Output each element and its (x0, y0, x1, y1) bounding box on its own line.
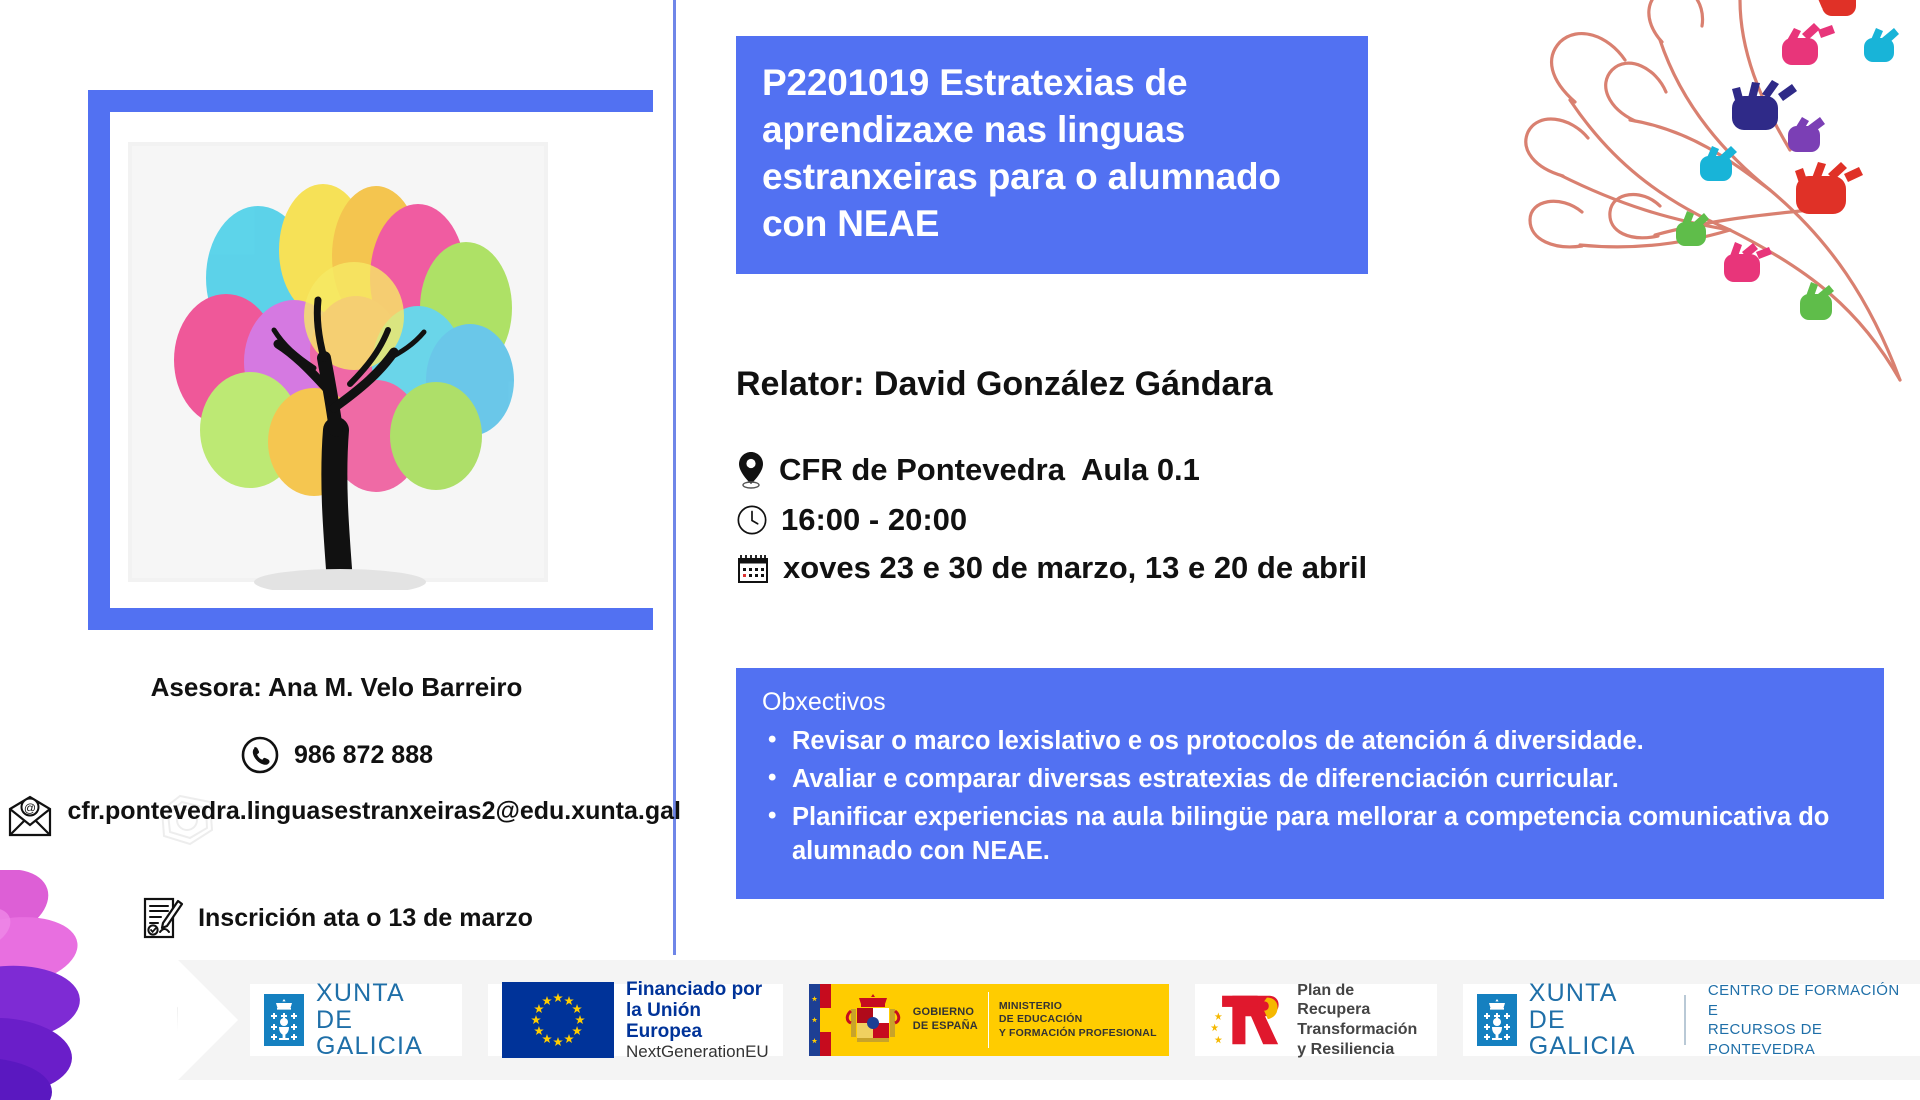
poster-canvas: Asesora: Ana M. Velo Barreiro 986 872 88… (0, 0, 1920, 1080)
calendar-icon (736, 551, 770, 585)
left-column: Asesora: Ana M. Velo Barreiro 986 872 88… (0, 0, 673, 955)
svg-text:@: @ (23, 801, 35, 815)
ministerio-wordmark: MINISTERIO DE EDUCACIÓN Y FORMACIÓN PROF… (999, 1000, 1157, 1041)
email-address: cfr.pontevedra.linguasestranxeiras2@edu.… (68, 795, 668, 827)
objectives-box: Obxectivos Revisar o marco lexislativo e… (736, 668, 1884, 899)
frame-top-bar (88, 90, 653, 112)
objective-item: Avaliar e comparar diversas estratexias … (762, 763, 1858, 797)
xunta-emblem-icon (264, 994, 304, 1046)
logo-separator (988, 992, 989, 1048)
xunta-line-1: XUNTA (316, 980, 448, 1007)
cfr-sub-line-1: CENTRO DE FORMACIÓN E (1708, 981, 1906, 1020)
gobierno-wordmark: GOBIERNO DE ESPAÑA (913, 1006, 978, 1034)
course-title: P2201019 Estratexias de aprendizaxe nas … (736, 36, 1368, 274)
registration-row: Inscrición ata o 13 de marzo (0, 895, 673, 941)
frame-bottom-bar (88, 608, 653, 630)
cfr-xunta-wordmark: XUNTA DE GALICIA (1529, 980, 1662, 1060)
plan-recuperacion-tr-icon (1209, 988, 1286, 1052)
footer-arrow-shape (178, 960, 238, 1080)
time-text: 16:00 - 20:00 (781, 502, 967, 538)
date-row: xoves 23 e 30 de marzo, 13 e 20 de abril (736, 550, 1367, 586)
date-text: xoves 23 e 30 de marzo, 13 e 20 de abril (783, 550, 1367, 586)
cfr-pontevedra-logo: XUNTA DE GALICIA CENTRO DE FORMACIÓN E R… (1463, 984, 1920, 1056)
advisor-label: Asesora: Ana M. Velo Barreiro (0, 672, 673, 703)
ministerio-line-3: Y FORMACIÓN PROFESIONAL (999, 1027, 1157, 1041)
fingerprint-tree-image (118, 130, 558, 590)
footer-logo-bar: XUNTA DE GALICIA (0, 960, 1920, 1080)
right-column: P2201019 Estratexias de aprendizaxe nas … (700, 0, 1920, 955)
phone-icon (240, 735, 280, 775)
time-row: 16:00 - 20:00 (736, 502, 1367, 538)
prtr-line-3: y Resiliencia (1297, 1040, 1422, 1060)
xunta-wordmark: XUNTA DE GALICIA (316, 980, 448, 1060)
phone-number: 986 872 888 (294, 739, 433, 771)
xunta-line-2: DE GALICIA (316, 1007, 448, 1061)
gobierno-line-2: DE ESPAÑA (913, 1020, 978, 1034)
email-row: @ cfr.pontevedra.linguasestranxeiras2@ed… (0, 795, 673, 839)
objectives-heading: Obxectivos (762, 688, 1858, 717)
eu-line-3: NextGenerationEU (626, 1042, 769, 1061)
eu-wordmark: Financiado por la Unión Europea NextGene… (626, 979, 769, 1062)
ministerio-line-2: DE EDUCACIÓN (999, 1013, 1157, 1027)
objective-item: Planificar experiencias na aula bilingüe… (762, 801, 1858, 869)
registration-deadline: Inscrición ata o 13 de marzo (198, 902, 533, 934)
objective-item: Revisar o marco lexislativo e os protoco… (762, 725, 1858, 759)
footer-logos: XUNTA DE GALICIA (250, 966, 1920, 1074)
registration-form-icon (140, 895, 184, 941)
event-details: CFR de Pontevedra Aula 0.1 16:00 - 20:00 (736, 450, 1367, 598)
cfr-xunta-line-1: XUNTA (1529, 980, 1662, 1007)
plan-recuperacion-wordmark: Plan de Recupera Transformación y Resili… (1297, 981, 1422, 1059)
prtr-line-1: Plan de Recupera (1297, 981, 1422, 1020)
spain-coat-of-arms-icon (843, 991, 903, 1049)
clock-icon (736, 503, 768, 537)
location-pin-icon (736, 450, 766, 490)
financiado-union-europea-logo: Financiado por la Unión Europea NextGene… (488, 984, 783, 1056)
prtr-line-2: Transformación (1297, 1020, 1422, 1040)
eu-line-1: Financiado por (626, 979, 769, 1000)
plan-recuperacion-logo: Plan de Recupera Transformación y Resili… (1195, 984, 1437, 1056)
gobierno-line-1: GOBIERNO (913, 1006, 978, 1020)
cfr-separator (1684, 995, 1686, 1045)
xunta-emblem-icon (1477, 994, 1517, 1046)
spain-flag-strip-icon (809, 984, 831, 1056)
ministerio-line-1: MINISTERIO (999, 1000, 1157, 1014)
frame-left-bar (88, 90, 110, 630)
cfr-xunta-line-2: DE GALICIA (1529, 1007, 1662, 1061)
speaker-label: Relator: David González Gándara (736, 365, 1273, 404)
objectives-list: Revisar o marco lexislativo e os protoco… (762, 725, 1858, 869)
eu-flag-icon (502, 982, 614, 1058)
cfr-sub-line-2: RECURSOS DE PONTEVEDRA (1708, 1020, 1906, 1059)
eu-line-2: la Unión Europea (626, 1000, 769, 1043)
xunta-de-galicia-logo: XUNTA DE GALICIA (250, 984, 462, 1056)
email-icon: @ (6, 795, 54, 839)
gobierno-de-espana-logo: GOBIERNO DE ESPAÑA MINISTERIO DE EDUCACI… (809, 984, 1169, 1056)
phone-row: 986 872 888 (0, 735, 673, 775)
cfr-subtitle: CENTRO DE FORMACIÓN E RECURSOS DE PONTEV… (1708, 981, 1906, 1059)
artwork-frame (88, 90, 653, 630)
location-text: CFR de Pontevedra Aula 0.1 (779, 452, 1200, 488)
location-row: CFR de Pontevedra Aula 0.1 (736, 450, 1367, 490)
